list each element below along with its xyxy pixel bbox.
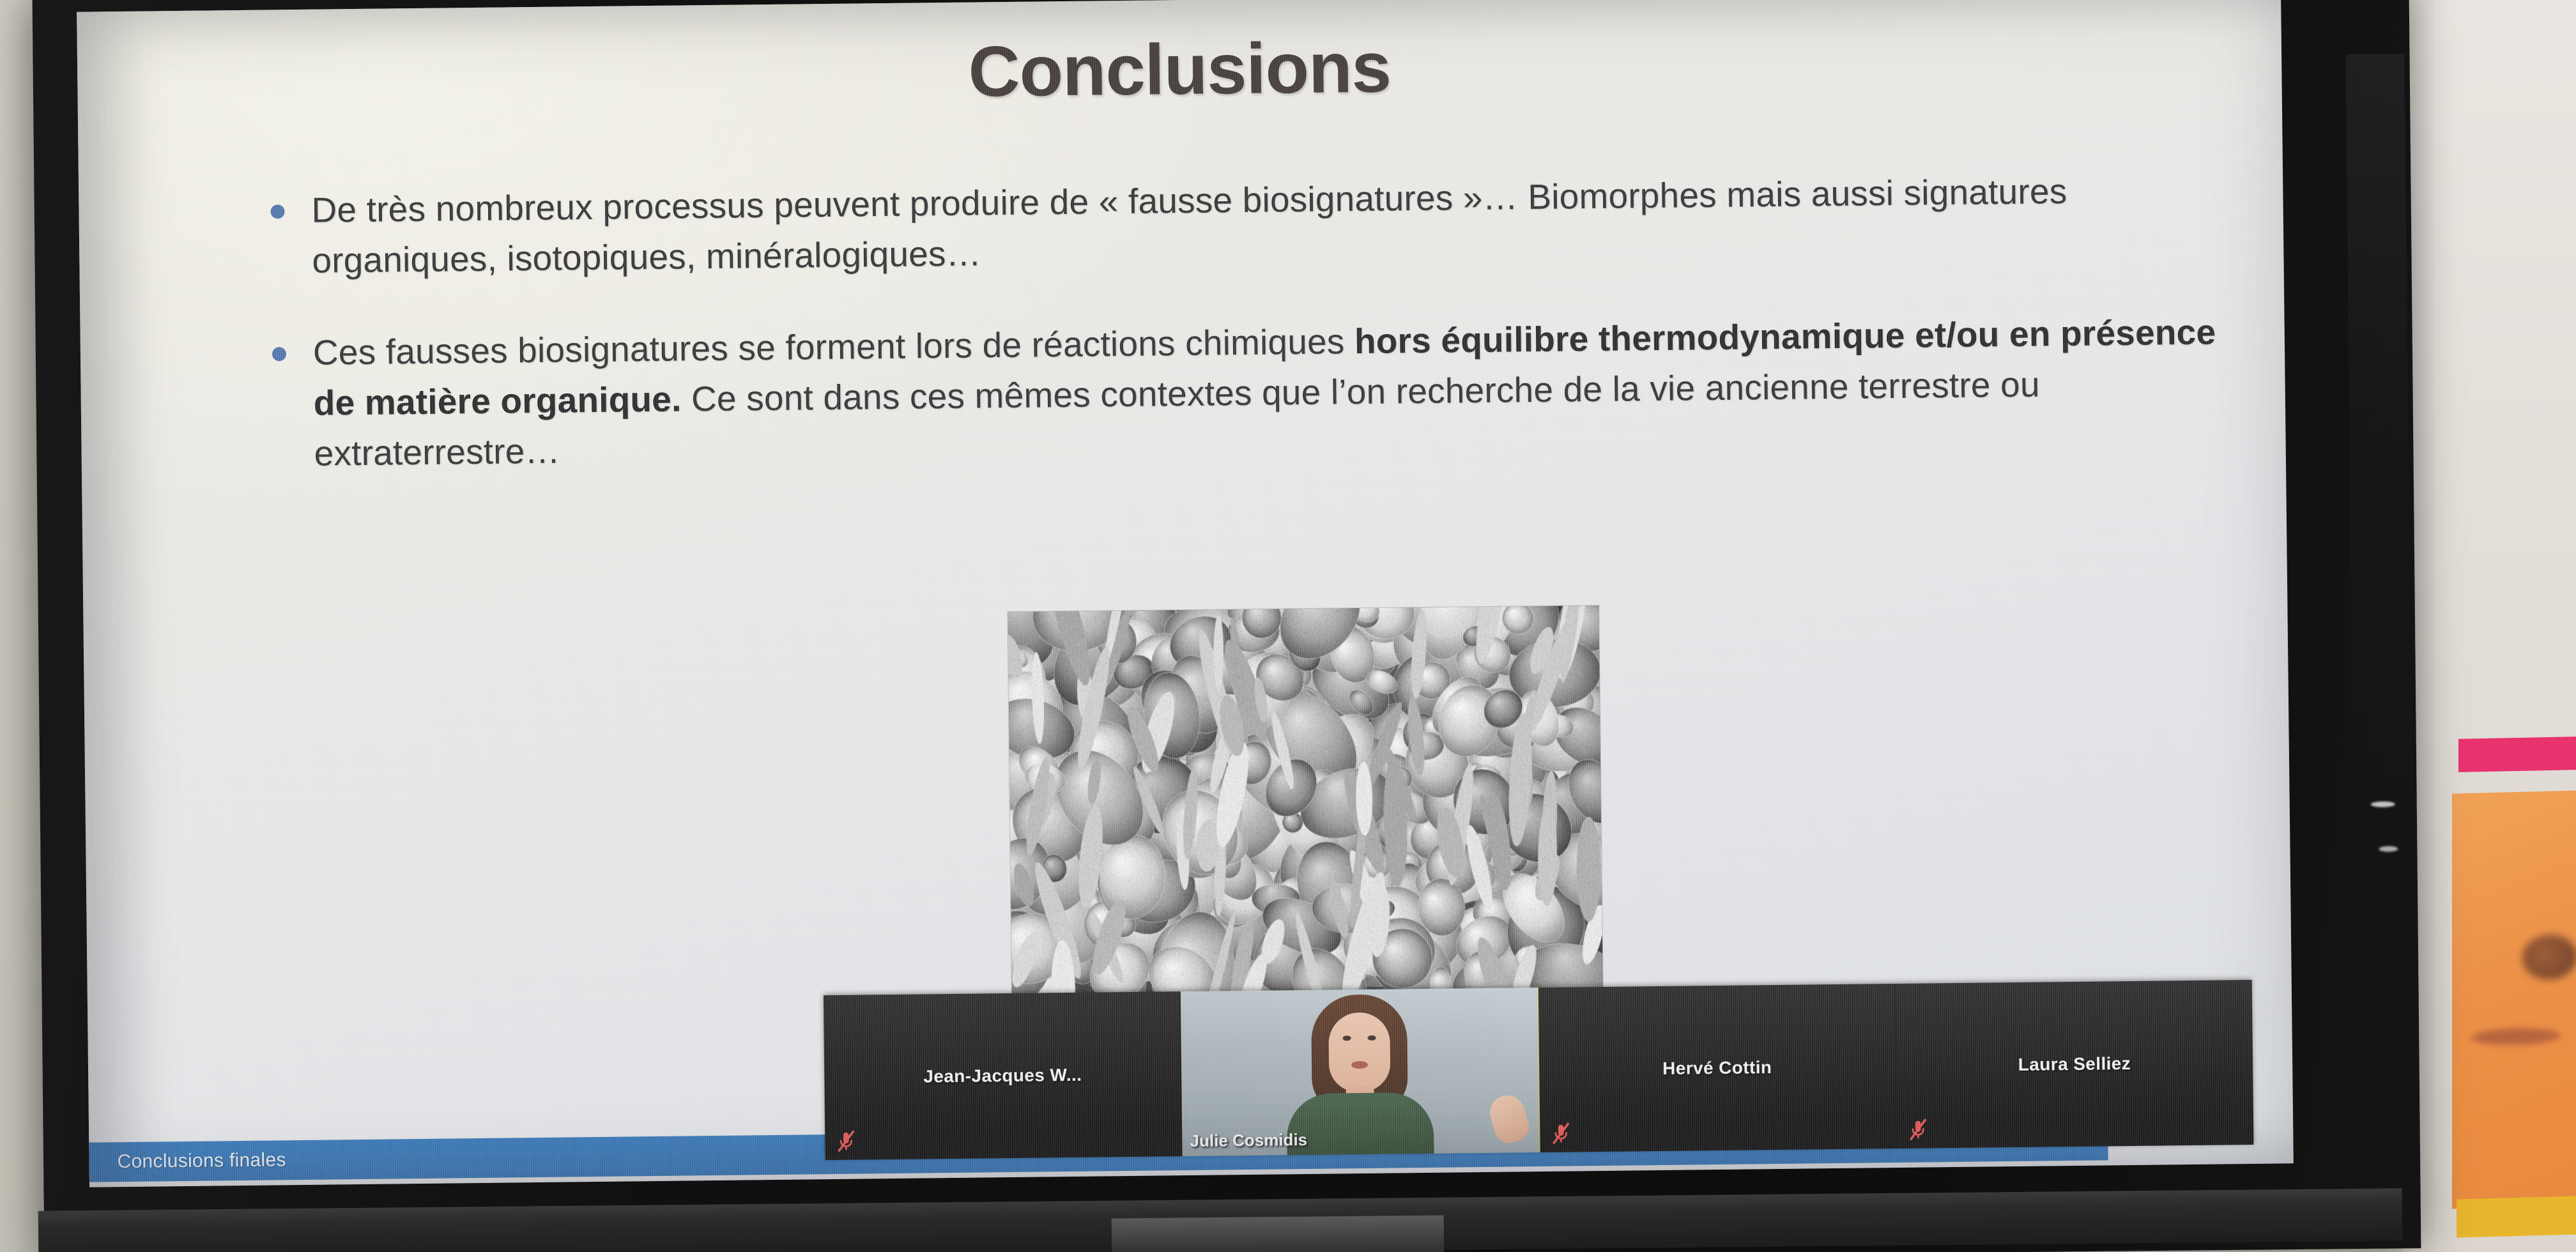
status-bar-text: Conclusions finales [89, 1149, 286, 1173]
video-participant-tile[interactable]: Laura Selliez [1896, 980, 2254, 1149]
video-participant-tile[interactable]: Jean-Jacques W... [824, 991, 1183, 1160]
monitor-stand [1112, 1216, 1445, 1252]
participant-name: Laura Selliez [2018, 1053, 2131, 1075]
bezel-glare [2346, 54, 2414, 1012]
bullet-text-segment: De très nombreux processus peuvent produ… [311, 171, 2067, 280]
sem-micrograph [1008, 606, 1602, 995]
bullet-text-segment: Ces fausses biosignatures se forment lor… [313, 321, 1355, 372]
wall-orange-poster [2452, 790, 2576, 1209]
monitor-screen: Conclusions De très nombreux processus p… [77, 0, 2294, 1187]
video-participant-tile[interactable]: Hervé Cottin [1538, 984, 1897, 1152]
list-item: Ces fausses biosignatures se forment lor… [272, 307, 2248, 478]
wall-yellow-strip [2457, 1196, 2576, 1238]
list-item: De très nombreux processus peuvent produ… [270, 164, 2246, 286]
bullet-text: Ces fausses biosignatures se forment lor… [313, 307, 2248, 478]
mic-off-icon[interactable] [1550, 1122, 1572, 1146]
bullet-dot-icon [272, 347, 286, 361]
mic-off-icon[interactable] [1907, 1117, 1929, 1141]
bullet-dot-icon [270, 204, 284, 218]
wall-pink-strip [2458, 737, 2576, 772]
slide-bullet-list: De très nombreux processus peuvent produ… [270, 164, 2248, 521]
page-title: Conclusions [77, 16, 2282, 122]
video-participant-tile[interactable]: Julie Cosmidis [1181, 988, 1540, 1156]
mic-off-icon[interactable] [835, 1129, 857, 1154]
sem-micrograph-canvas [1008, 606, 1602, 995]
participant-name: Julie Cosmidis [1190, 1130, 1307, 1151]
participant-name: Jean-Jacques W... [923, 1065, 1082, 1087]
participant-name: Hervé Cottin [1662, 1057, 1772, 1079]
video-conference-strip[interactable]: Jean-Jacques W...Julie CosmidisHervé Cot… [824, 980, 2254, 1160]
photographed-room-scene: Conclusions De très nombreux processus p… [0, 0, 2576, 1252]
bullet-text: De très nombreux processus peuvent produ… [311, 164, 2246, 286]
